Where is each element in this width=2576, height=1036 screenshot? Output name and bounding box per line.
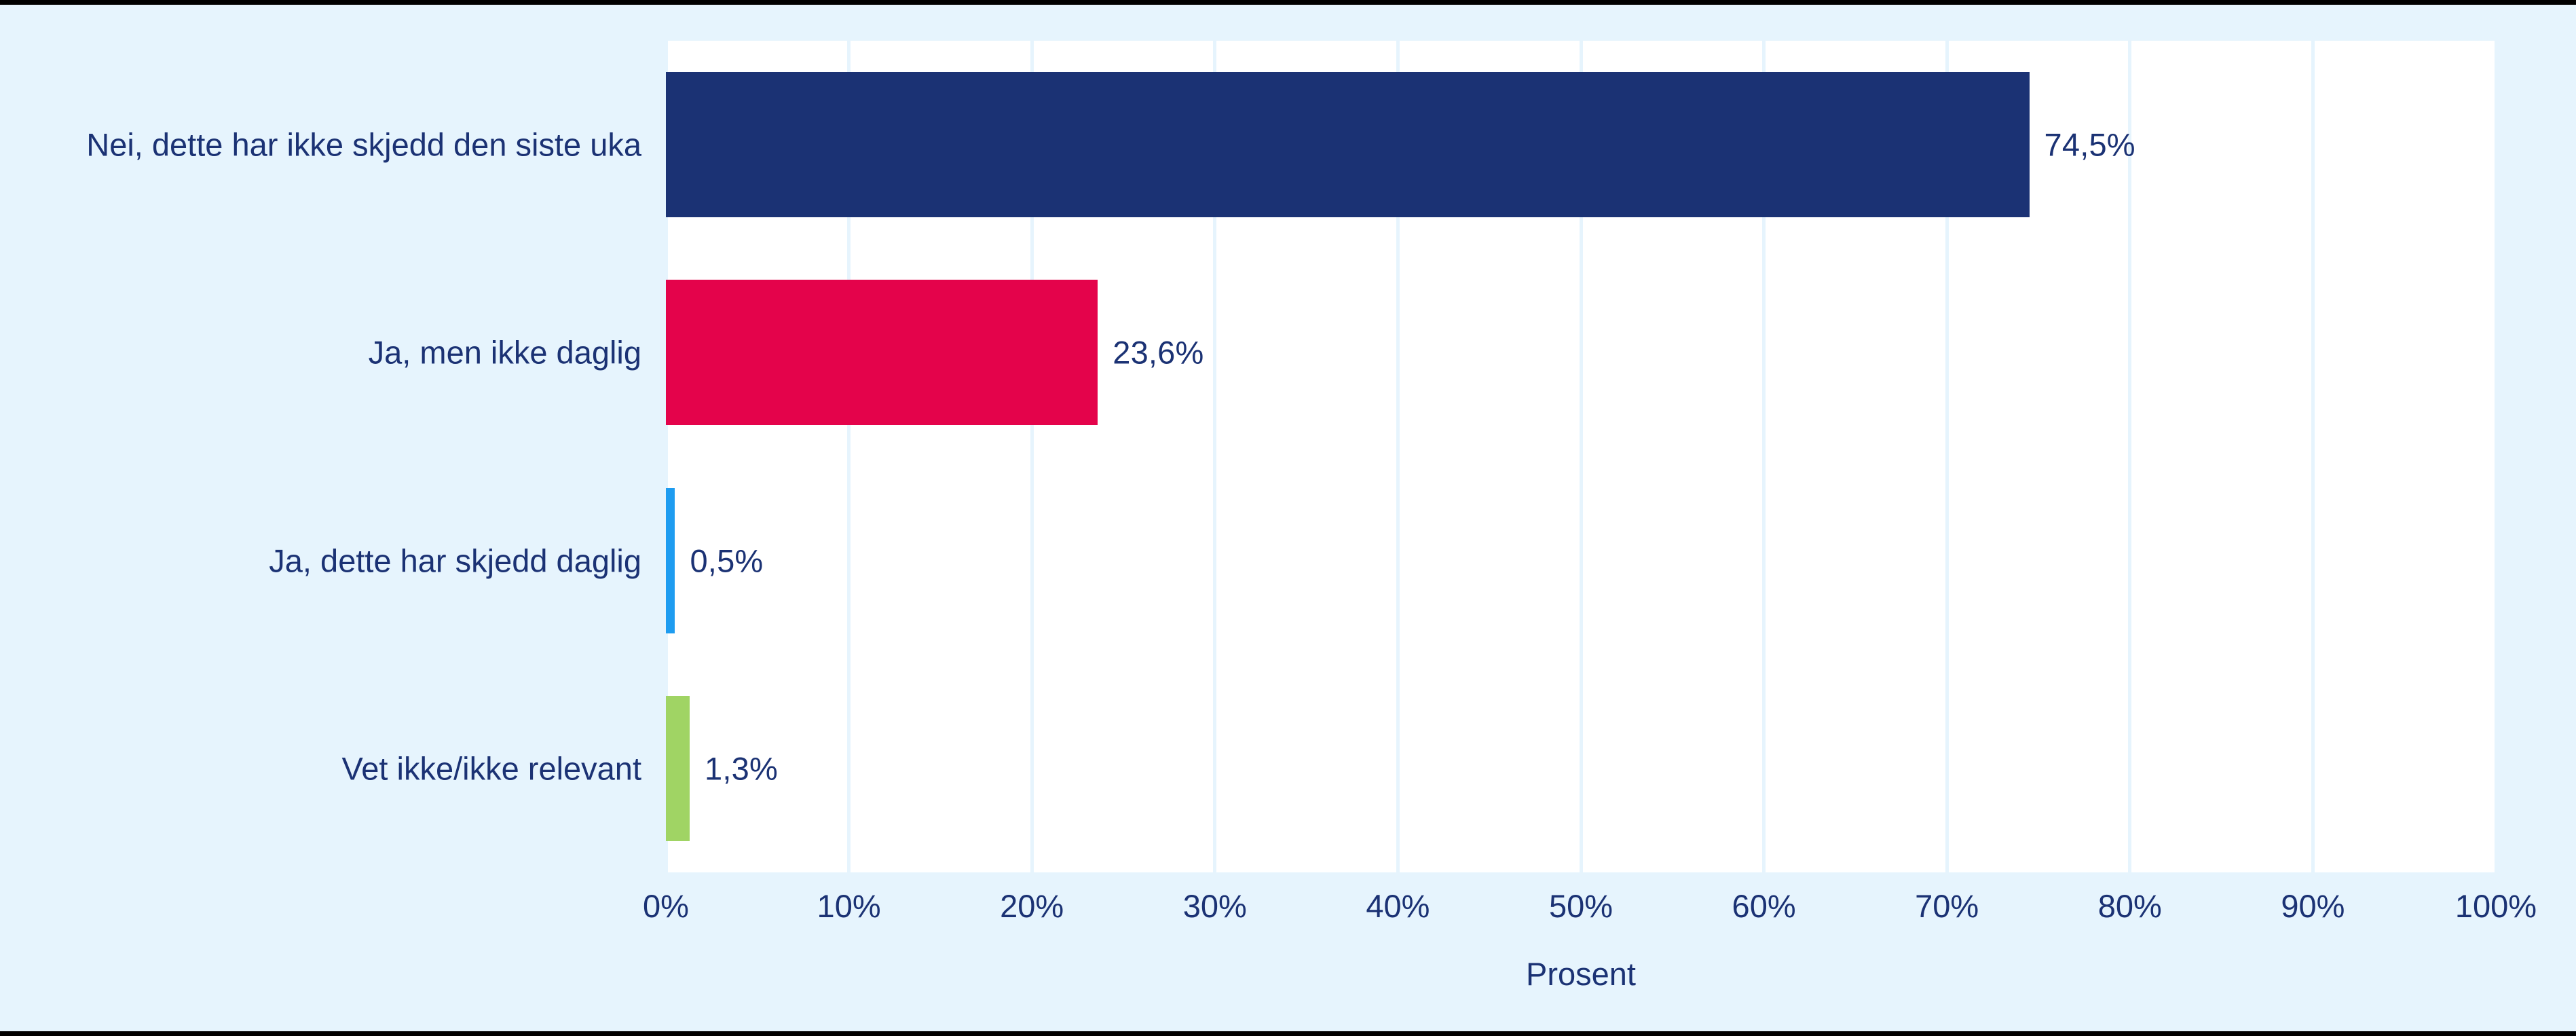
bar-value-label: 0,5% — [690, 542, 763, 579]
bar-value-label: 74,5% — [2045, 126, 2135, 164]
bar[interactable] — [666, 280, 1098, 425]
bar[interactable] — [666, 488, 675, 633]
category-label: Nei, dette har ikke skjedd den siste uka — [0, 126, 641, 164]
bar-row: 0,5% — [666, 457, 2496, 665]
x-axis-title: Prosent — [666, 955, 2496, 993]
category-label: Ja, dette har skjedd daglig — [0, 542, 641, 579]
x-tick-label: 70% — [1915, 887, 1979, 925]
x-tick-label: 30% — [1183, 887, 1247, 925]
x-tick-label: 60% — [1732, 887, 1796, 925]
x-tick-label: 10% — [817, 887, 881, 925]
x-tick-label: 40% — [1366, 887, 1430, 925]
x-tick-label: 90% — [2281, 887, 2345, 925]
category-label: Vet ikke/ikke relevant — [0, 750, 641, 787]
x-tick-label: 20% — [1000, 887, 1064, 925]
bar-value-label: 23,6% — [1113, 334, 1203, 371]
x-tick-label: 100% — [2455, 887, 2537, 925]
bar[interactable] — [666, 72, 2030, 217]
x-tick-label: 50% — [1549, 887, 1613, 925]
chart-figure: 74,5%23,6%0,5%1,3% Nei, dette har ikke s… — [0, 0, 2576, 1036]
category-axis-labels: Nei, dette har ikke skjedd den siste uka… — [0, 41, 641, 872]
bar[interactable] — [666, 696, 690, 841]
bar-row: 74,5% — [666, 41, 2496, 248]
bar-row: 23,6% — [666, 248, 2496, 456]
x-tick-label: 0% — [643, 887, 689, 925]
category-label: Ja, men ikke daglig — [0, 334, 641, 371]
plot-area: 74,5%23,6%0,5%1,3% — [666, 41, 2496, 872]
bar-row: 1,3% — [666, 665, 2496, 872]
bar-value-label: 1,3% — [705, 750, 778, 787]
x-tick-label: 80% — [2098, 887, 2162, 925]
x-axis-tick-labels: 0%10%20%30%40%50%60%70%80%90%100% — [666, 887, 2496, 928]
